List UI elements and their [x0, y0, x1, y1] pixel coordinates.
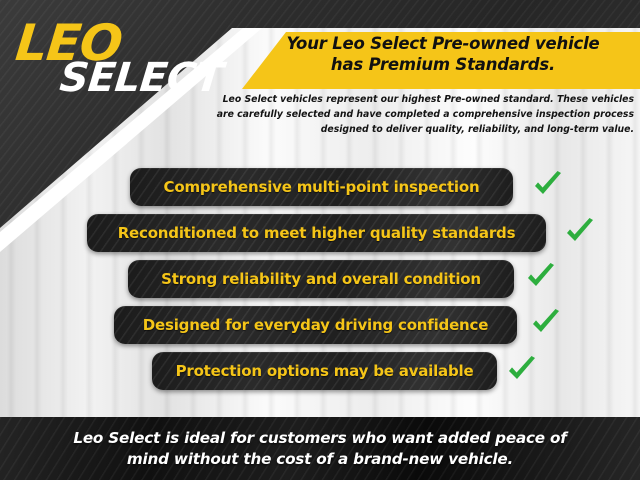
- feature-bar: Designed for everyday driving confidence: [114, 306, 517, 344]
- feature-row: Strong reliability and overall condition: [0, 260, 640, 306]
- feature-label: Reconditioned to meet higher quality sta…: [118, 224, 516, 242]
- feature-row: Designed for everyday driving confidence: [0, 306, 640, 352]
- check-mark-icon: [563, 215, 597, 249]
- headline: Your Leo Select Pre-owned vehicle has Pr…: [248, 33, 638, 75]
- logo-word-select: SELECT: [58, 58, 225, 98]
- check-mark-icon: [524, 260, 558, 294]
- feature-row: Reconditioned to meet higher quality sta…: [0, 214, 640, 260]
- footer-band: Leo Select is ideal for customers who wa…: [0, 417, 640, 480]
- feature-bar: Protection options may be available: [152, 352, 497, 390]
- feature-bar: Strong reliability and overall condition: [128, 260, 514, 298]
- feature-label: Strong reliability and overall condition: [161, 270, 481, 288]
- feature-label: Protection options may be available: [176, 362, 474, 380]
- check-mark-icon: [531, 168, 565, 202]
- leo-select-poster: LEO SELECT Your Leo Select Pre-owned veh…: [0, 0, 640, 480]
- check-mark-icon: [529, 306, 563, 340]
- headline-line-2: has Premium Standards.: [248, 54, 638, 75]
- footer-line-1: Leo Select is ideal for customers who wa…: [73, 429, 566, 447]
- check-mark-icon: [505, 353, 539, 387]
- leo-select-logo: LEO SELECT: [16, 18, 226, 108]
- footer-line-2: mind without the cost of a brand-new veh…: [20, 449, 620, 470]
- headline-line-1: Your Leo Select Pre-owned vehicle: [286, 34, 599, 53]
- footer-text: Leo Select is ideal for customers who wa…: [20, 428, 620, 469]
- feature-bar: Comprehensive multi-point inspection: [130, 168, 513, 206]
- feature-label: Comprehensive multi-point inspection: [164, 178, 480, 196]
- feature-row: Comprehensive multi-point inspection: [0, 168, 640, 214]
- feature-row: Protection options may be available: [0, 352, 640, 398]
- feature-list: Comprehensive multi-point inspection Rec…: [0, 168, 640, 398]
- feature-bar: Reconditioned to meet higher quality sta…: [87, 214, 546, 252]
- intro-paragraph: Leo Select vehicles represent our highes…: [206, 92, 634, 137]
- feature-label: Designed for everyday driving confidence: [143, 316, 488, 334]
